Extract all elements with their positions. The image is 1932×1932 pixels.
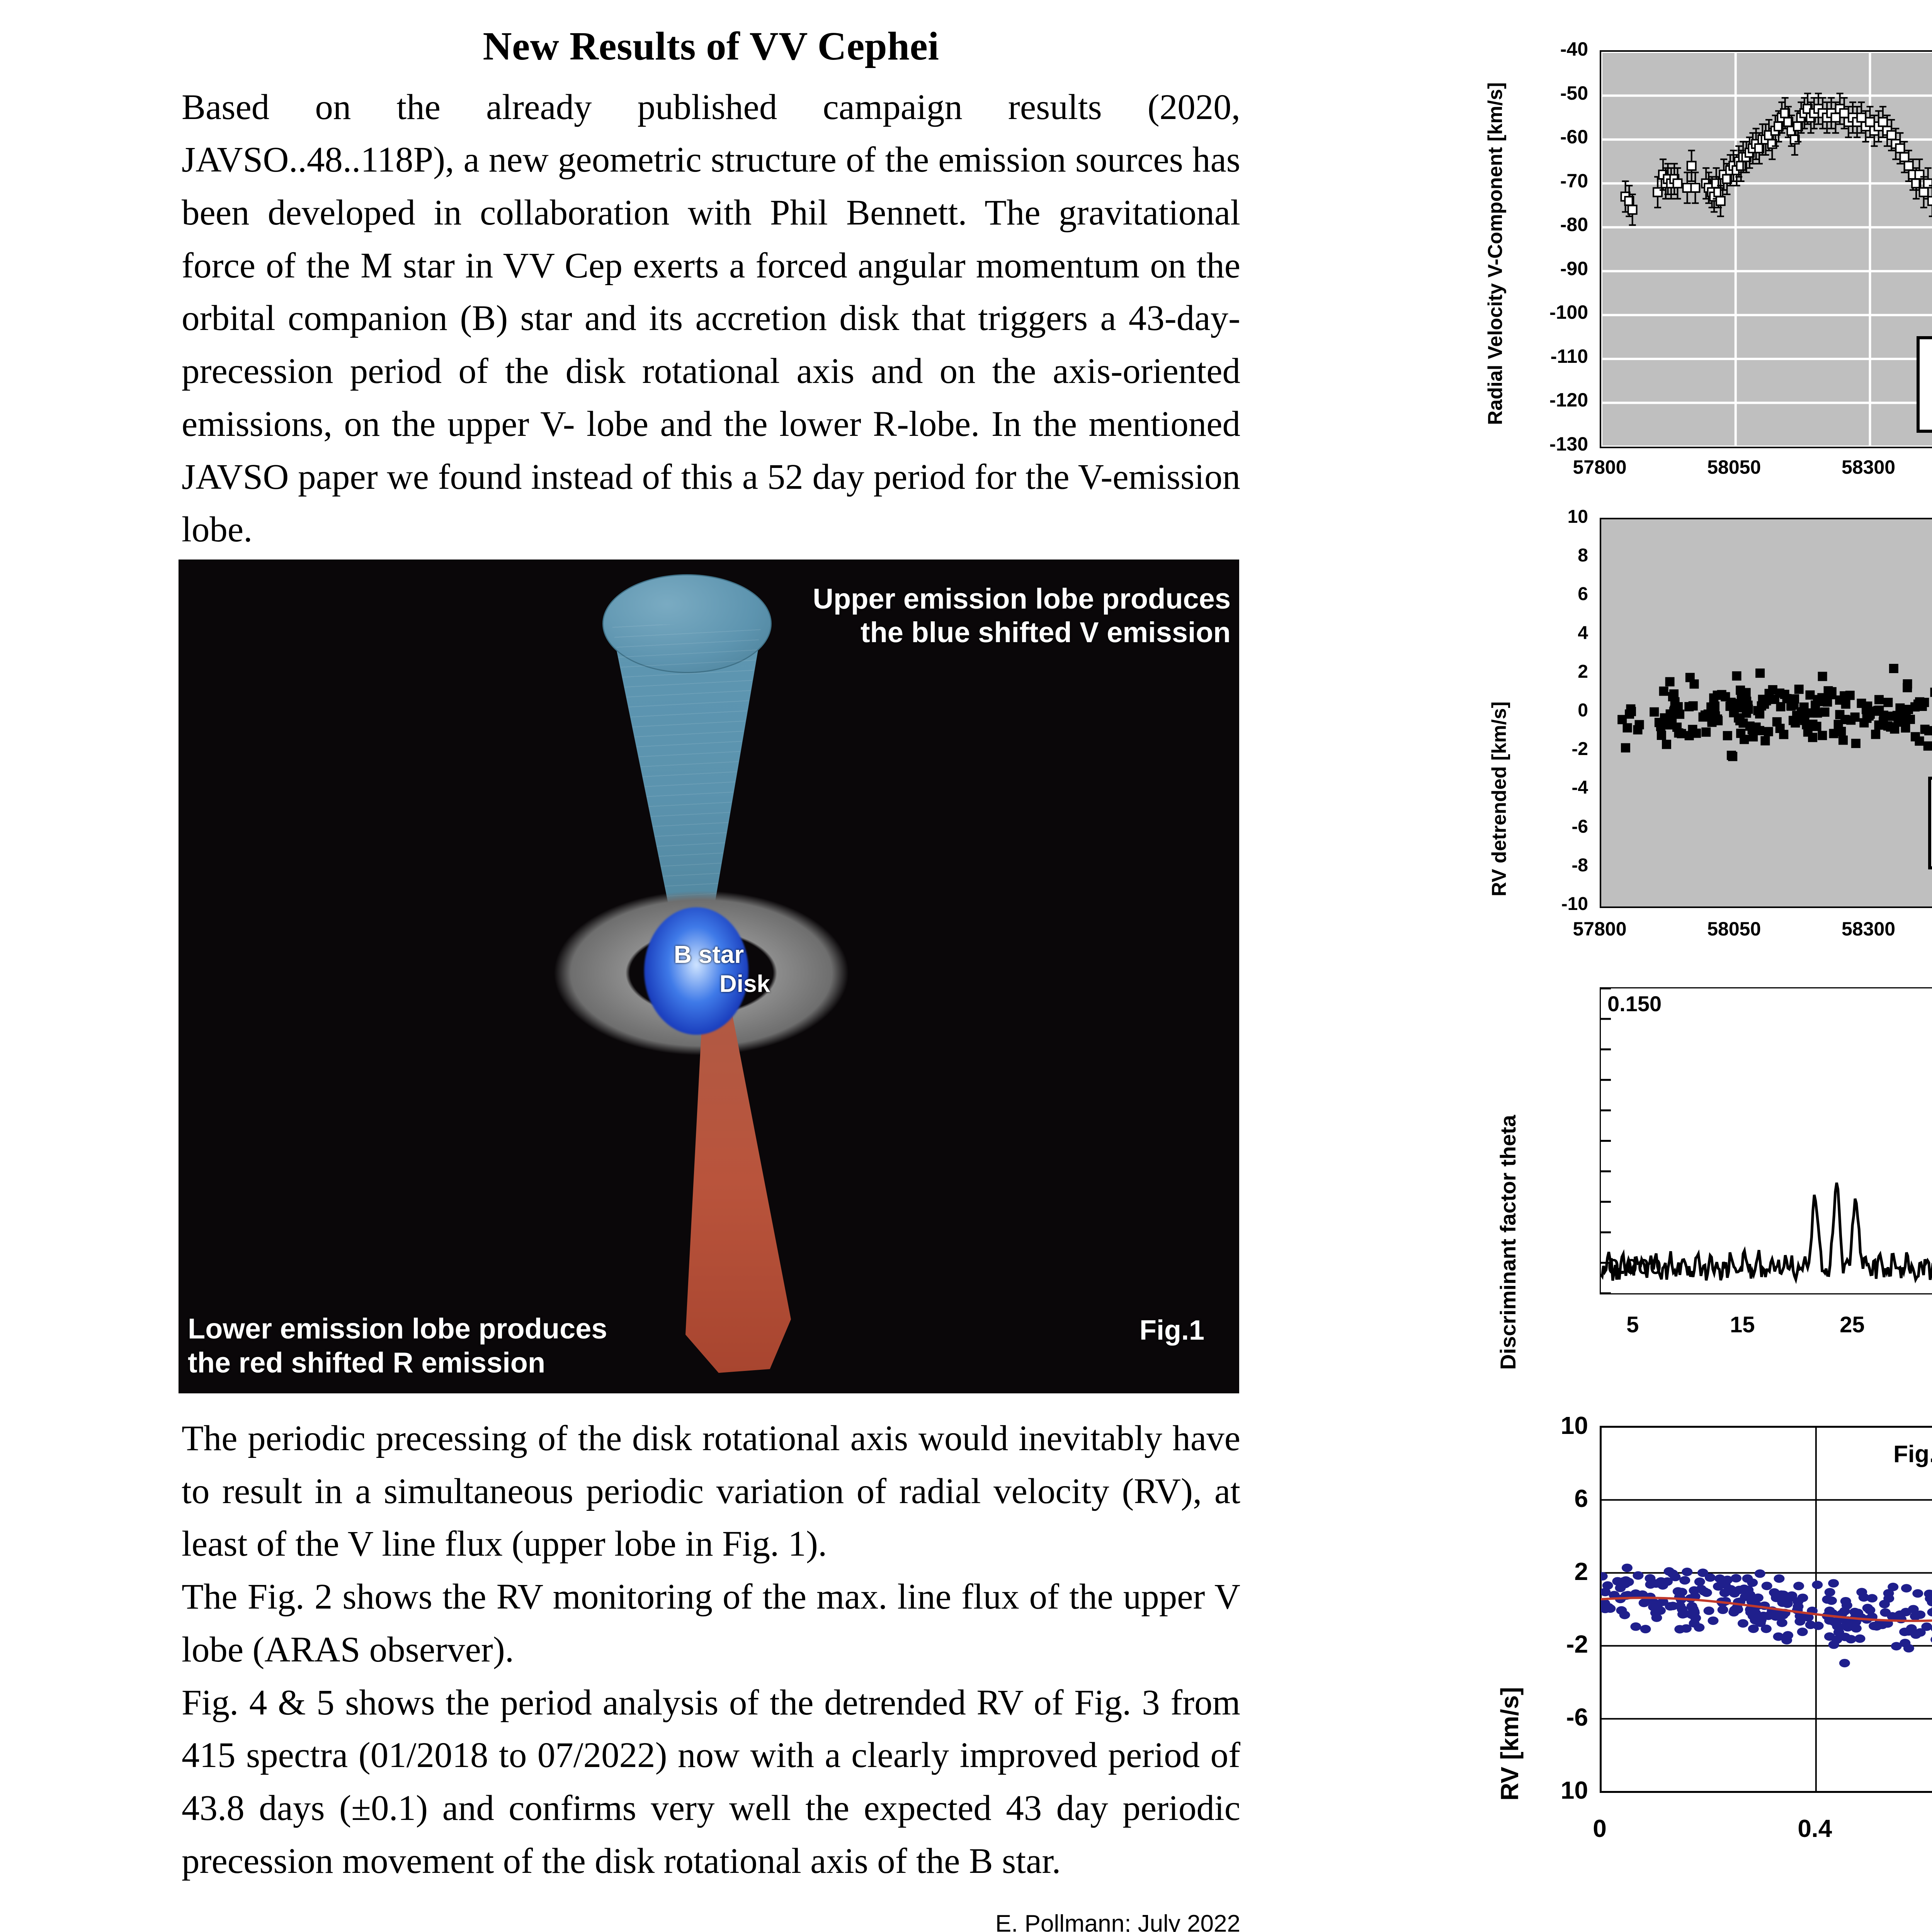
figure4-y-max-label: 0.150 — [1607, 991, 1662, 1016]
figure-2-chart: Radial Velocity V-Component [km/s] Fig. … — [1445, 0, 1932, 498]
figure2-y-ticks-item: -130 — [1492, 433, 1588, 455]
article-column-lower: The periodic precessing of the disk rota… — [182, 1412, 1240, 1932]
figure3-y-ticks-item: -4 — [1499, 777, 1588, 798]
figure2-y-ticks-item: -110 — [1492, 345, 1588, 367]
figure-1-diagram: Upper emission lobe produces the blue sh… — [179, 560, 1239, 1393]
figure5-y-ticks-item: 10 — [1499, 1411, 1588, 1440]
figure5-y-ticks-item: -2 — [1499, 1630, 1588, 1658]
figure3-y-ticks-item: 2 — [1499, 661, 1588, 682]
figure-5-chart: RV [km/s] Fig. 5: Phase 1062-2-610 00.40… — [1445, 1414, 1932, 1917]
figure2-y-ticks-item: -80 — [1492, 213, 1588, 236]
figure2-y-ticks-item: -50 — [1492, 82, 1588, 104]
author-signature: E. Pollmann; July 2022 — [182, 1910, 1240, 1932]
figure3-plot-area — [1600, 518, 1932, 908]
figure3-y-ticks-item: 8 — [1499, 545, 1588, 566]
figure5-y-ticks-item: 2 — [1499, 1557, 1588, 1586]
figure3-y-ticks-item: 6 — [1499, 583, 1588, 605]
figure4-x-ticks-item: 15 — [1684, 1312, 1800, 1338]
figure5-plot-svg — [1601, 1427, 1932, 1792]
figure2-plot-area — [1600, 50, 1932, 448]
article-paragraph-2: The periodic precessing of the disk rota… — [182, 1412, 1240, 1571]
figure5-y-ticks-item: 6 — [1499, 1484, 1588, 1513]
figure4-x-ticks-item: 25 — [1794, 1312, 1910, 1338]
figure3-y-ticks-item: 10 — [1499, 506, 1588, 527]
article-paragraph-3: The Fig. 2 shows the RV monitoring of th… — [182, 1571, 1240, 1676]
figure5-x-ticks-item: 0 — [1542, 1814, 1658, 1843]
figure2-title-callout: Fig. 2: RV Monitoring of the V emission … — [1917, 336, 1932, 433]
figure3-y-ticks-item: -2 — [1499, 738, 1588, 760]
figure4-y-min-label: 0.000 — [1607, 1254, 1662, 1279]
figure2-y-ticks-item: -90 — [1492, 257, 1588, 280]
figure5-y-ticks-item: -6 — [1499, 1703, 1588, 1731]
figure2-y-ticks-item: -40 — [1492, 38, 1588, 60]
figure4-x-ticks-item: 35 — [1904, 1312, 1932, 1338]
figure4-x-ticks-item: 5 — [1575, 1312, 1690, 1338]
article-paragraph-1: Based on the already published campaign … — [182, 81, 1240, 556]
figure3-y-ticks-item: 0 — [1499, 700, 1588, 721]
figure4-plot-svg — [1601, 988, 1932, 1293]
page-title: New Results of VV Cephei — [182, 23, 1240, 70]
figure3-x-ticks-item: 58050 — [1676, 918, 1792, 940]
figure1-disk-label: Disk — [719, 970, 770, 998]
figure3-y-ticks-item: 4 — [1499, 622, 1588, 644]
figure3-y-ticks-item: -6 — [1499, 816, 1588, 837]
figure2-x-ticks-item: 58300 — [1811, 456, 1927, 478]
figure1-bstar-label: B star — [674, 940, 744, 969]
figure2-plot-svg — [1601, 52, 1932, 447]
figure3-x-ticks-item: 57800 — [1542, 918, 1658, 940]
figure3-y-ticks-item: -8 — [1499, 855, 1588, 876]
figure4-plot-area — [1600, 987, 1932, 1294]
figure2-y-ticks-item: -120 — [1492, 389, 1588, 411]
figure1-number-label: Fig.1 — [1139, 1314, 1204, 1347]
article-paragraph-4: Fig. 4 & 5 shows the period analysis of … — [182, 1677, 1240, 1888]
figure2-y-ticks-item: -60 — [1492, 126, 1588, 148]
figure5-x-ticks-item: 0.4 — [1757, 1814, 1873, 1843]
figure2-x-ticks-item: 57800 — [1542, 456, 1658, 478]
figure3-x-ticks-item: 58300 — [1811, 918, 1927, 940]
document-page: New Results of VV Cephei Based on the al… — [0, 0, 1932, 1917]
figure3-title-callout: Fig. 3: RV Monitoring detrended — [1928, 777, 1932, 869]
figure5-y-ticks-item: 10 — [1499, 1776, 1588, 1804]
figure2-y-ticks-item: -70 — [1492, 170, 1588, 192]
figure4-y-axis-label: Discriminant factor theta — [1495, 1115, 1520, 1370]
figure3-plot-svg — [1601, 519, 1932, 906]
figure-3-chart: RV detrended [km/s] Fig. 3: RV Monitorin… — [1445, 502, 1932, 981]
figure2-x-ticks-item: 58050 — [1676, 456, 1792, 478]
article-column: New Results of VV Cephei Based on the al… — [182, 23, 1240, 556]
figure-4-chart: Discriminant factor theta 0.150 0.000 Fi… — [1445, 983, 1932, 1412]
figure3-y-ticks-item: -10 — [1499, 893, 1588, 915]
figure1-lower-caption: Lower emission lobe produces the red shi… — [188, 1312, 607, 1379]
figures-column: Radial Velocity V-Component [km/s] Fig. … — [1445, 0, 1932, 1917]
figure5-plot-area — [1600, 1426, 1932, 1793]
figure2-y-ticks-item: -100 — [1492, 301, 1588, 323]
figure5-title-text: Fig. 5: Phase — [1893, 1439, 1932, 1469]
figure1-upper-caption: Upper emission lobe produces the blue sh… — [813, 582, 1231, 650]
